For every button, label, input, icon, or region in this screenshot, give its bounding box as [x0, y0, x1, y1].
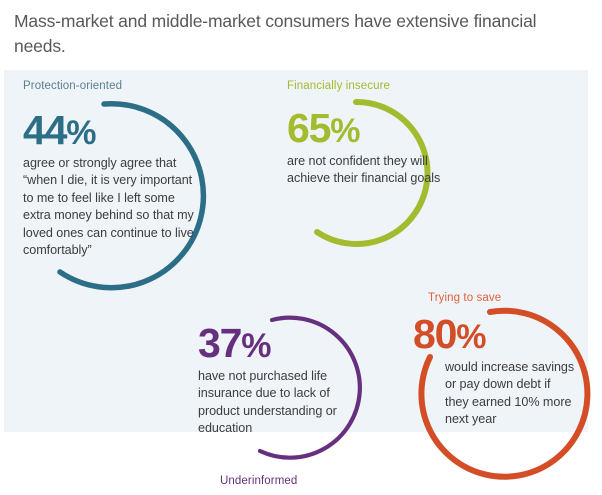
stat-label-protection-oriented: Protection-oriented: [23, 80, 122, 92]
stat-block-trying-to-save: Trying to save 80% would increase saving…: [408, 292, 602, 492]
percent-symbol-trying-to-save: %: [456, 318, 486, 356]
stat-label-trying-to-save: Trying to save: [428, 292, 501, 304]
stat-value-underinformed: 37%: [198, 323, 366, 366]
header: Mass-market and middle-market consumers …: [0, 0, 602, 70]
percent-symbol-protection-oriented: %: [66, 114, 96, 152]
stat-description-trying-to-save: would increase savings or pay down debt …: [445, 359, 575, 429]
stat-value-financially-insecure: 65%: [287, 108, 462, 151]
stat-text-trying-to-save: 80% would increase savings or pay down d…: [413, 314, 573, 429]
stat-number-financially-insecure: 65: [287, 105, 330, 151]
stat-text-financially-insecure: 65% are not confident they will achieve …: [287, 108, 462, 188]
stat-text-underinformed: 37% have not purchased life insurance du…: [198, 323, 366, 438]
percent-symbol-underinformed: %: [241, 327, 271, 365]
stat-number-trying-to-save: 80: [413, 311, 456, 357]
stat-number-underinformed: 37: [198, 320, 241, 366]
stat-block-protection-oriented: Protection-oriented 44% agree or strongl…: [18, 80, 233, 320]
stat-block-underinformed: 37% have not purchased life insurance du…: [194, 315, 394, 495]
stat-label-financially-insecure: Financially insecure: [287, 80, 390, 92]
infographic-panel: Protection-oriented 44% agree or strongl…: [4, 70, 588, 432]
percent-symbol-financially-insecure: %: [330, 112, 360, 150]
stat-description-financially-insecure: are not confident they will achieve thei…: [287, 153, 462, 188]
stat-block-financially-insecure: Financially insecure 65% are not confide…: [280, 80, 490, 255]
stat-label-underinformed: Underinformed: [220, 475, 297, 487]
stat-value-protection-oriented: 44%: [23, 110, 203, 153]
stat-description-protection-oriented: agree or strongly agree that “when I die…: [23, 155, 203, 259]
stat-description-underinformed: have not purchased life insurance due to…: [198, 368, 366, 438]
stat-text-protection-oriented: 44% agree or strongly agree that “when I…: [23, 110, 203, 259]
stat-number-protection-oriented: 44: [23, 107, 66, 153]
page-title: Mass-market and middle-market consumers …: [14, 9, 580, 59]
stat-value-trying-to-save: 80%: [413, 314, 573, 357]
